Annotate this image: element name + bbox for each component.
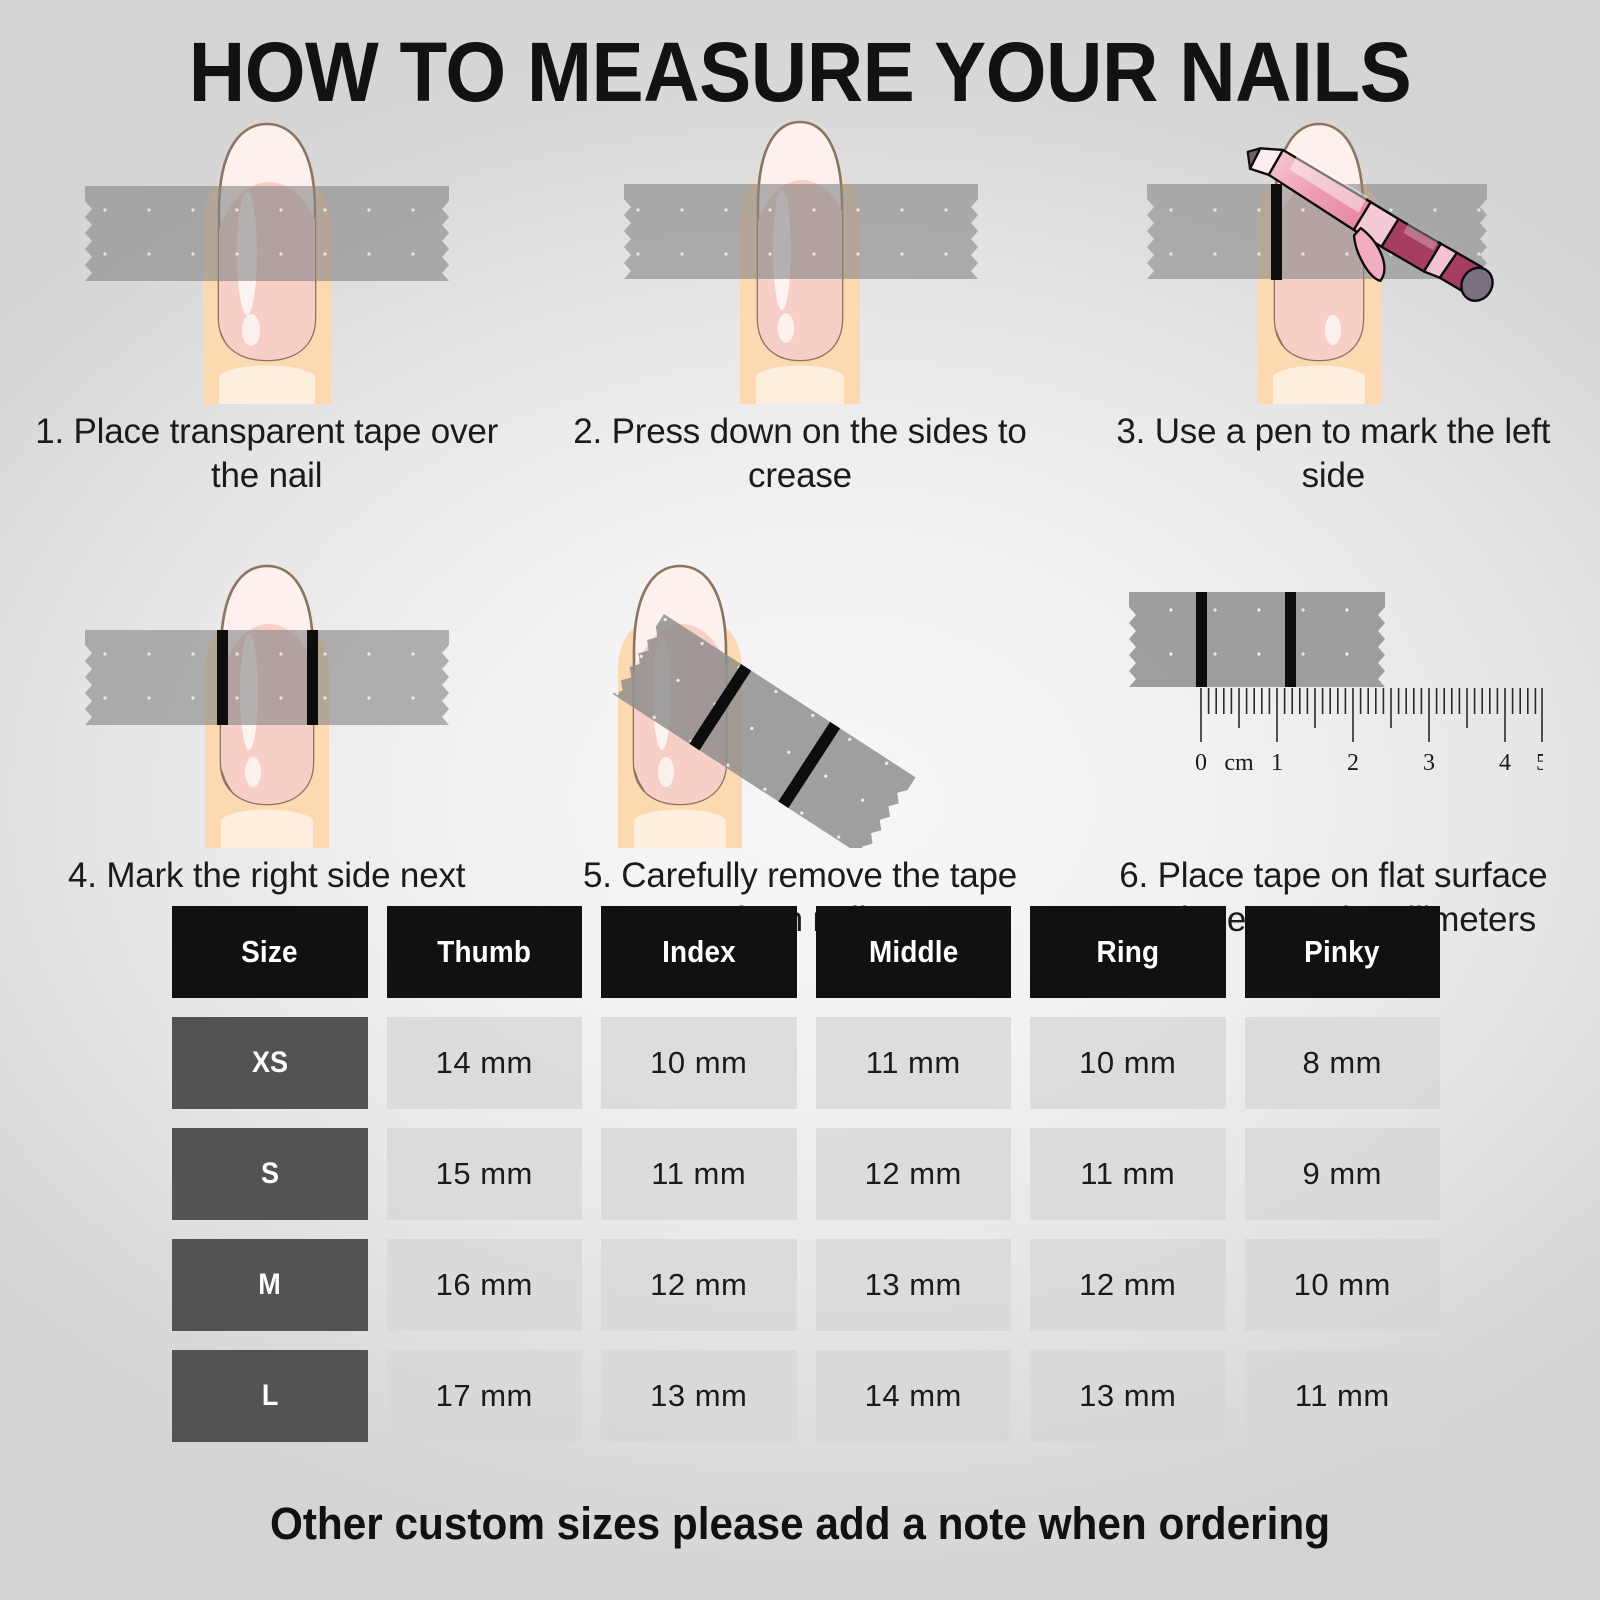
table-row: M 16 mm 12 mm 13 mm 12 mm 10 mm (172, 1239, 1440, 1331)
step-2-caption: 2. Press down on the sides to crease (560, 410, 1040, 498)
step-5-illustration (590, 562, 1010, 848)
step-4: 4. Mark the right side next (0, 562, 533, 942)
cell-xs-index: 10 mm (601, 1017, 797, 1109)
transparent-tape-creased (624, 184, 978, 279)
cell-xs-thumb: 14 mm (387, 1017, 583, 1109)
step-3-caption: 3. Use a pen to mark the left side (1093, 410, 1573, 498)
footer-note: Other custom sizes please add a note whe… (48, 1498, 1552, 1550)
steps-section: 1. Place transparent tape over the nail (0, 118, 1600, 942)
ruler-label-0: 0 (1195, 750, 1207, 776)
cell-l-middle: 14 mm (816, 1350, 1012, 1442)
cell-s-pinky: 9 mm (1245, 1128, 1441, 1220)
tape-mark-left (1196, 592, 1207, 687)
cell-xs-middle: 11 mm (816, 1017, 1012, 1109)
finger-tape-pen-illustration (1123, 118, 1543, 404)
ruler-label-3: 3 (1423, 750, 1435, 776)
cell-s-thumb: 15 mm (387, 1128, 583, 1220)
ruler: 0 cm 1 2 3 4 5 (1195, 688, 1543, 776)
table-row: L 17 mm 13 mm 14 mm 13 mm 11 mm (172, 1350, 1440, 1442)
table-header-row: Size Thumb Index Middle Ring Pinky (172, 906, 1440, 998)
left-mark (217, 630, 228, 725)
infographic-page: HOW TO MEASURE YOUR NAILS (0, 0, 1600, 1600)
table-header-pinky: Pinky (1245, 906, 1441, 998)
table-header-thumb: Thumb (387, 906, 583, 998)
page-title: HOW TO MEASURE YOUR NAILS (56, 24, 1544, 121)
finger-tape-creased-illustration (590, 118, 1010, 404)
cell-m-middle: 13 mm (816, 1239, 1012, 1331)
steps-row-bottom: 4. Mark the right side next (0, 562, 1600, 942)
step-2: 2. Press down on the sides to crease (533, 118, 1066, 498)
tape-removed-illustration (590, 562, 1010, 848)
size-label-m: M (172, 1239, 368, 1331)
finger-tape-two-marks-illustration (57, 562, 477, 848)
cell-xs-pinky: 8 mm (1245, 1017, 1441, 1109)
table-row: S 15 mm 11 mm 12 mm 11 mm 9 mm (172, 1128, 1440, 1220)
step-3-illustration (1123, 118, 1543, 404)
step-1: 1. Place transparent tape over the nail (0, 118, 533, 498)
table-row: XS 14 mm 10 mm 11 mm 10 mm 8 mm (172, 1017, 1440, 1109)
ruler-label-4: 4 (1499, 750, 1511, 776)
right-mark (307, 630, 318, 725)
table-header-middle: Middle (816, 906, 1012, 998)
cell-l-index: 13 mm (601, 1350, 797, 1442)
cell-l-thumb: 17 mm (387, 1350, 583, 1442)
size-chart-table: Size Thumb Index Middle Ring Pinky XS 14… (172, 906, 1440, 1461)
size-label-s: S (172, 1128, 368, 1220)
table-header-ring: Ring (1030, 906, 1226, 998)
cell-m-index: 12 mm (601, 1239, 797, 1331)
steps-row-top: 1. Place transparent tape over the nail (0, 118, 1600, 498)
ruler-label-cm: cm (1225, 750, 1255, 776)
ruler-label-1: 1 (1271, 750, 1283, 776)
table-header-index: Index (601, 906, 797, 998)
flat-tape (1129, 592, 1385, 687)
tape-on-ruler-illustration: 0 cm 1 2 3 4 5 (1123, 562, 1543, 848)
cell-s-ring: 11 mm (1030, 1128, 1226, 1220)
step-1-illustration (57, 118, 477, 404)
left-mark (1271, 184, 1282, 280)
step-5: 5. Carefully remove the tape from nail (533, 562, 1066, 942)
transparent-tape (85, 186, 449, 281)
size-label-xs: XS (172, 1017, 368, 1109)
step-6-illustration: 0 cm 1 2 3 4 5 (1123, 562, 1543, 848)
ruler-label-2: 2 (1347, 750, 1359, 776)
cell-s-middle: 12 mm (816, 1128, 1012, 1220)
step-4-caption: 4. Mark the right side next (27, 854, 507, 898)
cell-m-thumb: 16 mm (387, 1239, 583, 1331)
cell-xs-ring: 10 mm (1030, 1017, 1226, 1109)
step-1-caption: 1. Place transparent tape over the nail (27, 410, 507, 498)
step-2-illustration (590, 118, 1010, 404)
ruler-label-5: 5 (1536, 750, 1543, 776)
table-header-size: Size (172, 906, 368, 998)
step-4-illustration (57, 562, 477, 848)
cell-m-ring: 12 mm (1030, 1239, 1226, 1331)
cell-m-pinky: 10 mm (1245, 1239, 1441, 1331)
cell-s-index: 11 mm (601, 1128, 797, 1220)
tape-mark-right (1285, 592, 1296, 687)
step-6: 0 cm 1 2 3 4 5 6. Place tape on flat sur… (1067, 562, 1600, 942)
transparent-tape (85, 630, 449, 725)
finger-with-tape-illustration (57, 118, 477, 404)
step-3: 3. Use a pen to mark the left side (1067, 118, 1600, 498)
cell-l-ring: 13 mm (1030, 1350, 1226, 1442)
size-label-l: L (172, 1350, 368, 1442)
cell-l-pinky: 11 mm (1245, 1350, 1441, 1442)
